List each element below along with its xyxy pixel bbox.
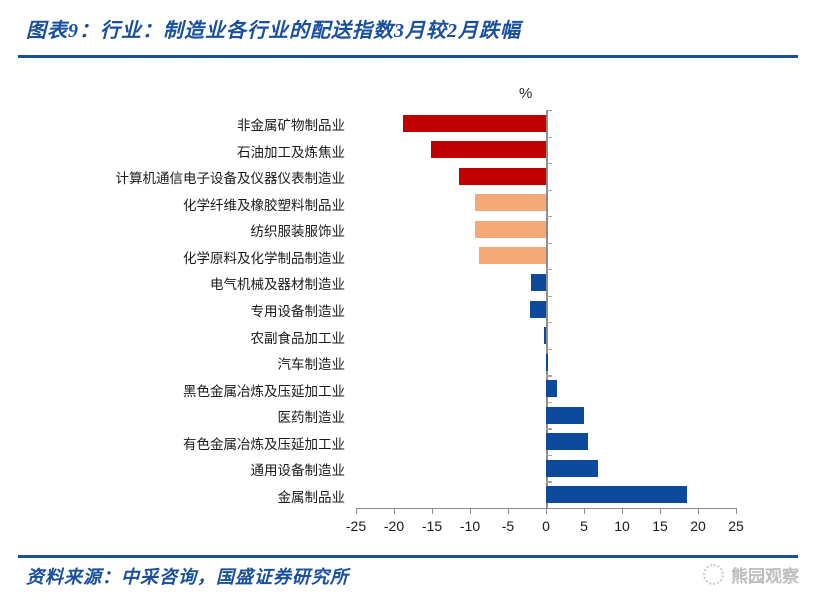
header-divider [18,55,798,58]
x-axis-tick [546,508,547,514]
bar [530,301,546,318]
y-axis-tick [546,402,552,403]
x-axis-tick [660,508,661,514]
bar [546,380,557,397]
x-axis-tick [356,508,357,514]
x-axis-tick [394,508,395,514]
x-axis-tick [432,508,433,514]
x-axis-tick [736,508,737,514]
x-axis-tick-label: 15 [652,518,668,534]
footer-divider [18,555,798,558]
bar [546,460,598,477]
bar [431,141,546,158]
bar [546,354,548,371]
bar [544,327,546,344]
x-axis-tick-label: -10 [460,518,480,534]
x-axis-tick [470,508,471,514]
y-axis-tick [546,322,552,323]
x-axis-tick [508,508,509,514]
category-label: 金属制品业 [278,486,346,506]
circle-logo-icon [703,564,724,585]
x-axis-tick [698,508,699,514]
chart-canvas: % 非金属矿物制品业石油加工及炼焦业计算机通信电子设备及仪器仪表制造业化学纤维及… [0,62,815,552]
category-label: 石油加工及炼焦业 [237,141,345,161]
category-label: 纺织服装服饰业 [251,220,346,240]
x-axis-tick-label: 10 [614,518,630,534]
x-axis-tick-label: -20 [384,518,404,534]
axis-unit-label: % [519,85,532,102]
chart-header: 图表9：行业：制造业各行业的配送指数3月较2月跌幅 [0,0,815,62]
x-axis-tick-label: 0 [542,518,550,534]
category-label: 农副食品加工业 [251,327,346,347]
bar [546,407,584,424]
x-axis-tick-label: 5 [580,518,588,534]
bar [479,247,546,264]
y-axis-tick [546,163,552,164]
y-axis-tick [546,190,552,191]
category-label: 专用设备制造业 [251,300,346,320]
y-axis-tick [546,428,552,429]
category-label: 电气机械及器材制造业 [210,273,345,293]
y-axis-tick [546,375,552,376]
y-axis-tick [546,481,552,482]
x-axis-tick-label: 25 [728,518,744,534]
y-axis-tick [546,110,552,111]
x-axis-tick-label: -25 [346,518,366,534]
category-label: 汽车制造业 [278,353,346,373]
bar [459,168,546,185]
bar [475,194,546,211]
x-axis-tick [584,508,585,514]
y-axis-tick [546,243,552,244]
bar [475,221,546,238]
bar [531,274,546,291]
bar [546,433,588,450]
x-axis-tick-label: -15 [422,518,442,534]
x-axis-tick [622,508,623,514]
y-axis-tick [546,296,552,297]
watermark-label: 熊园观察 [731,562,799,587]
category-label: 化学原料及化学制品制造业 [183,247,345,267]
category-label-column: 非金属矿物制品业石油加工及炼焦业计算机通信电子设备及仪器仪表制造业化学纤维及橡胶… [0,110,345,508]
y-axis-tick [546,216,552,217]
category-label: 通用设备制造业 [251,459,346,479]
watermark: 熊园观察 [703,562,799,587]
page-title: 图表9：行业：制造业各行业的配送指数3月较2月跌幅 [26,14,521,43]
bar [403,115,546,132]
category-label: 化学纤维及橡胶塑料制品业 [183,194,345,214]
y-axis-tick [546,455,552,456]
plot-area: -25-20-15-10-50510152025 [356,110,736,508]
category-label: 黑色金属冶炼及压延加工业 [183,380,345,400]
y-axis-tick [546,137,552,138]
bar [546,486,687,503]
category-label: 有色金属冶炼及压延加工业 [183,433,345,453]
category-label: 医药制造业 [278,406,346,426]
category-label: 非金属矿物制品业 [237,114,345,134]
y-axis-tick [546,349,552,350]
x-axis-tick-label: 20 [690,518,706,534]
x-axis-tick-label: -5 [502,518,514,534]
y-axis-tick [546,269,552,270]
category-label: 计算机通信电子设备及仪器仪表制造业 [116,167,346,187]
source-note: 资料来源：中采咨询，国盛证券研究所 [26,563,349,589]
